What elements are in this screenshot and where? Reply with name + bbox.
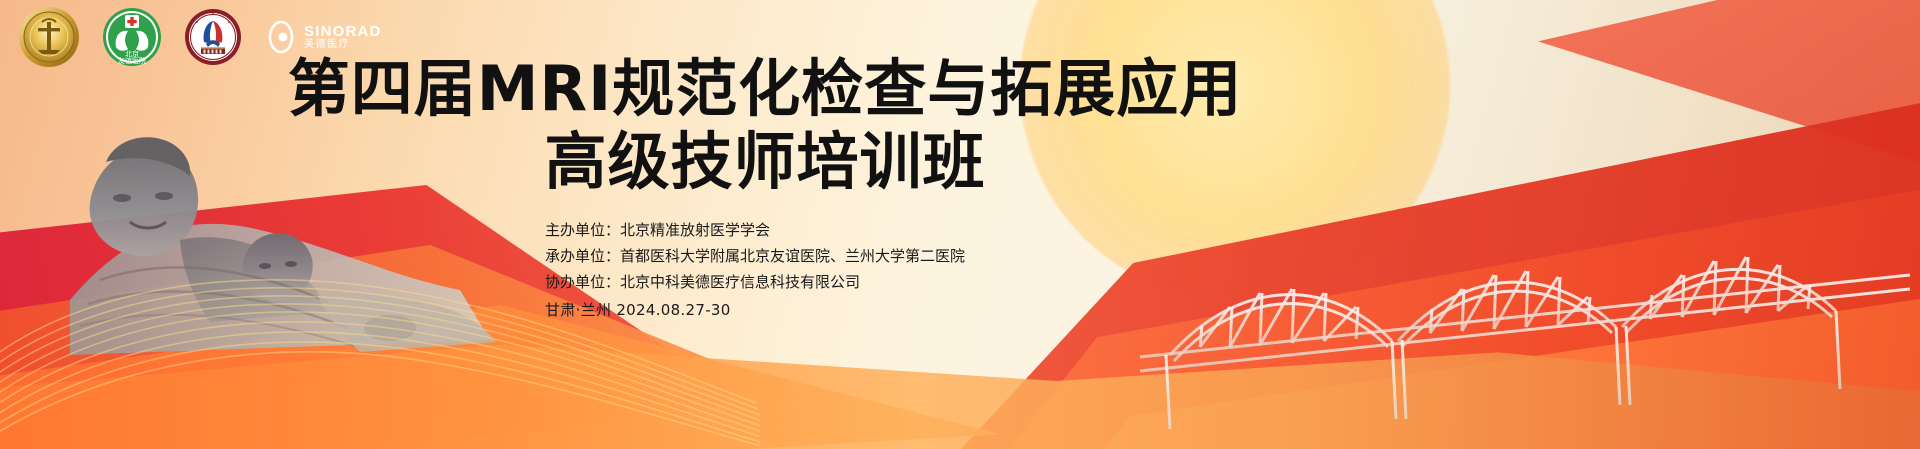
svg-text:友谊医院: 友谊医院 <box>118 56 146 65</box>
detail-line-organizer: 主办单位：北京精准放射医学学会 <box>545 218 965 244</box>
ribbon-right-3-decoration <box>1040 230 1920 449</box>
detail-line-coorganizer: 协办单位：北京中科美德医疗信息科技有限公司 <box>545 270 965 296</box>
sinorad-logo: SINORAD 美德医疗 <box>264 20 382 54</box>
sinorad-brand-cn: 美德医疗 <box>304 40 382 51</box>
gold-medal-logo <box>18 6 80 68</box>
title-block: 第四届MRI规范化检查与拓展应用 高级技师培训班 <box>0 56 1530 196</box>
sinorad-brand-en: SINORAD <box>304 24 382 40</box>
detail-line-venue-date: 甘肃·兰州 2024.08.27-30 <box>545 298 965 324</box>
lanzhou-university-second-hospital-logo <box>184 8 242 66</box>
beijing-youyi-hospital-logo: 北京 友谊医院 <box>102 7 162 67</box>
sinorad-mark-icon <box>264 20 298 54</box>
ribbon-bottom-decoration <box>0 329 1920 449</box>
conference-details: 主办单位：北京精准放射医学学会 承办单位：首都医科大学附属北京友谊医院、兰州大学… <box>545 218 965 324</box>
detail-line-host: 承办单位：首都医科大学附属北京友谊医院、兰州大学第二医院 <box>545 244 965 270</box>
logo-row: 北京 友谊医院 <box>18 6 382 68</box>
ribbon-left-3-decoration <box>0 305 1000 449</box>
conference-title-line-2: 高级技师培训班 <box>0 129 1530 196</box>
conference-banner: 北京 友谊医院 <box>0 0 1920 449</box>
